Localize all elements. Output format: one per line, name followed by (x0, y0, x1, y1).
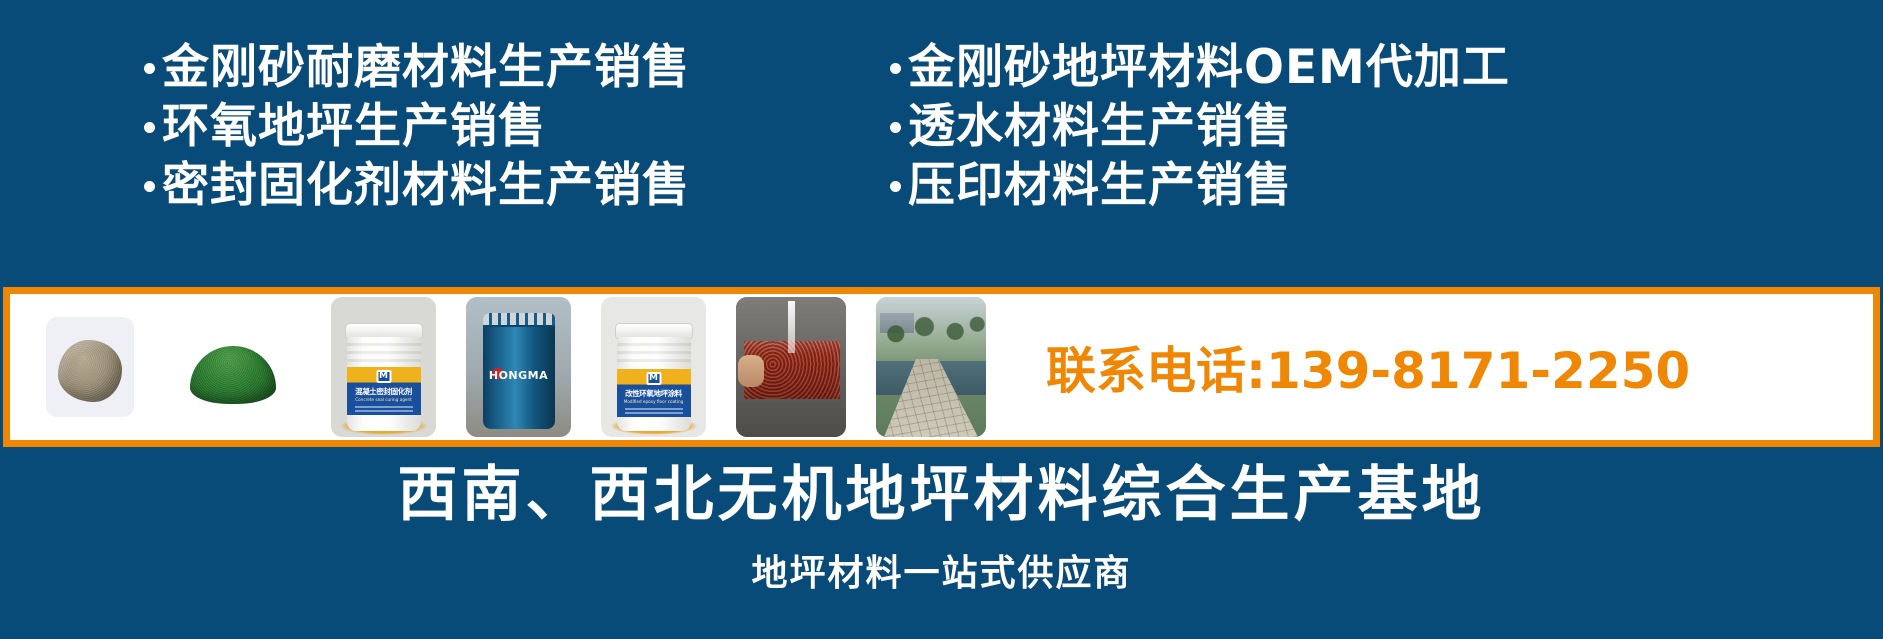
powder-pile-green-icon (190, 346, 276, 404)
feature-label: 金刚砂地坪材料OEM代加工 (908, 38, 1510, 97)
bullet-dot-icon (890, 122, 901, 133)
feature-item: 环氧地坪生产销售 (144, 97, 870, 156)
pail-label-cn: 混凝土密封固化剂 (347, 387, 421, 396)
feature-item: 透水材料生产销售 (890, 97, 1883, 156)
feature-label: 密封固化剂材料生产销售 (162, 156, 690, 215)
feature-label: 环氧地坪生产销售 (162, 97, 546, 156)
product-thumb-abrasive-grey-powder (46, 317, 134, 417)
hand-icon (738, 355, 764, 387)
product-thumb-sealer-pail: M 混凝土密封固化剂 Concrete seal curing agent (331, 297, 436, 437)
product-thumb-hongma-drum: HONGMA (466, 297, 571, 437)
feature-label: 透水材料生产销售 (908, 97, 1292, 156)
pail-icon: M 改性环氧地坪涂料 Modified epoxy floor coating (617, 323, 691, 431)
feature-column-left: 金刚砂耐磨材料生产销售 环氧地坪生产销售 密封固化剂材料生产销售 (0, 38, 870, 238)
trees-icon (876, 305, 986, 353)
water-stream-icon (788, 301, 795, 353)
feature-label: 压印材料生产销售 (908, 156, 1292, 215)
pail-label-cn: 改性环氧地坪涂料 (617, 389, 691, 398)
bullet-dot-icon (144, 122, 155, 133)
promo-banner: 金刚砂耐磨材料生产销售 环氧地坪生产销售 密封固化剂材料生产销售 金刚砂地坪材料… (0, 0, 1883, 639)
product-strip: M 混凝土密封固化剂 Concrete seal curing agent (3, 287, 1880, 447)
feature-lists: 金刚砂耐磨材料生产销售 环氧地坪生产销售 密封固化剂材料生产销售 金刚砂地坪材料… (0, 38, 1883, 238)
product-thumb-permeable-concrete (736, 297, 846, 437)
product-thumbnail-row: M 混凝土密封固化剂 Concrete seal curing agent (10, 294, 1016, 440)
feature-item: 压印材料生产销售 (890, 156, 1883, 215)
bullet-dot-icon (890, 181, 901, 192)
powder-pile-grey-icon (58, 340, 122, 402)
bullet-dot-icon (144, 181, 155, 192)
pail-icon: M 混凝土密封固化剂 Concrete seal curing agent (347, 323, 421, 431)
drum-lid (483, 313, 555, 327)
pail-label-en: Concrete seal curing agent (347, 397, 421, 402)
bullet-dot-icon (144, 63, 155, 74)
feature-label: 金刚砂耐磨材料生产销售 (162, 38, 690, 97)
drum-brand-label: HONGMA (483, 369, 555, 382)
feature-item: 金刚砂耐磨材料生产销售 (144, 38, 870, 97)
headline-main: 西南、西北无机地坪材料综合生产基地 (0, 459, 1883, 531)
bullet-dot-icon (890, 63, 901, 74)
headline-sub: 地坪材料一站式供应商 (0, 551, 1883, 597)
pail-label-en: Modified epoxy floor coating (617, 399, 691, 404)
feature-item: 密封固化剂材料生产销售 (144, 156, 870, 215)
brand-m-logo-icon: M (376, 370, 391, 383)
feature-column-right: 金刚砂地坪材料OEM代加工 透水材料生产销售 压印材料生产销售 (870, 38, 1883, 238)
pail-body: M 混凝土密封固化剂 Concrete seal curing agent (347, 337, 421, 431)
contact-phone[interactable]: 联系电话:139-8171-2250 (1016, 331, 1873, 403)
product-thumb-epoxy-pail: M 改性环氧地坪涂料 Modified epoxy floor coating (601, 297, 706, 437)
drum-icon: HONGMA (483, 313, 555, 429)
product-thumb-abrasive-green-powder (180, 317, 285, 417)
pail-body: M 改性环氧地坪涂料 Modified epoxy floor coating (617, 337, 691, 431)
product-thumb-stamped-path (876, 297, 986, 437)
feature-item: 金刚砂地坪材料OEM代加工 (890, 38, 1883, 97)
brand-m-logo-icon: M (646, 372, 661, 385)
